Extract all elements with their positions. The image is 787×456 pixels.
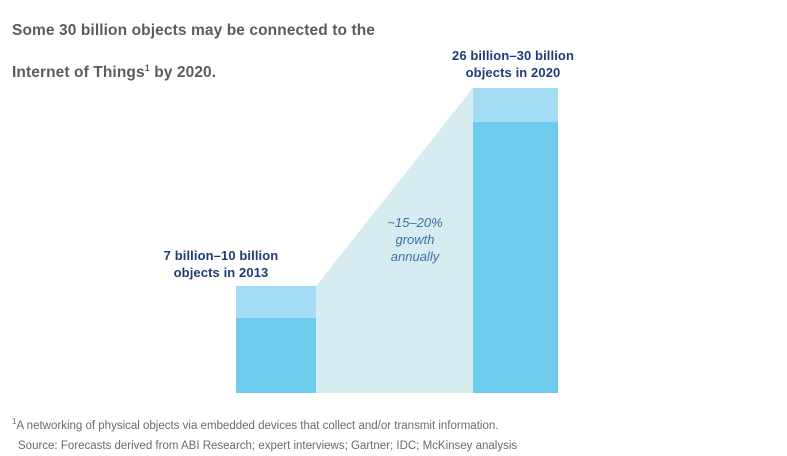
growth-rate-annotation: ~15–20% growth annually [355,214,475,265]
bar-2013-lower-segment [236,318,316,393]
chart-svg [0,0,787,400]
bar-2020-lower-segment [473,122,558,393]
footnote-definition: 1A networking of physical objects via em… [12,412,782,436]
value-label-2013: 7 billion–10 billion objects in 2013 [116,247,326,281]
chart-plot-area: 7 billion–10 billion objects in 2013 26 … [0,0,787,400]
value-label-2020: 26 billion–30 billion objects in 2020 [398,47,628,81]
bar-2013-upper-segment [236,286,316,318]
bar-2020-upper-segment [473,88,558,122]
footnotes: 1A networking of physical objects via em… [12,412,782,456]
footnote-source: Source: Forecasts derived from ABI Resea… [12,436,782,456]
footnote-definition-text: A networking of physical objects via emb… [16,420,498,432]
